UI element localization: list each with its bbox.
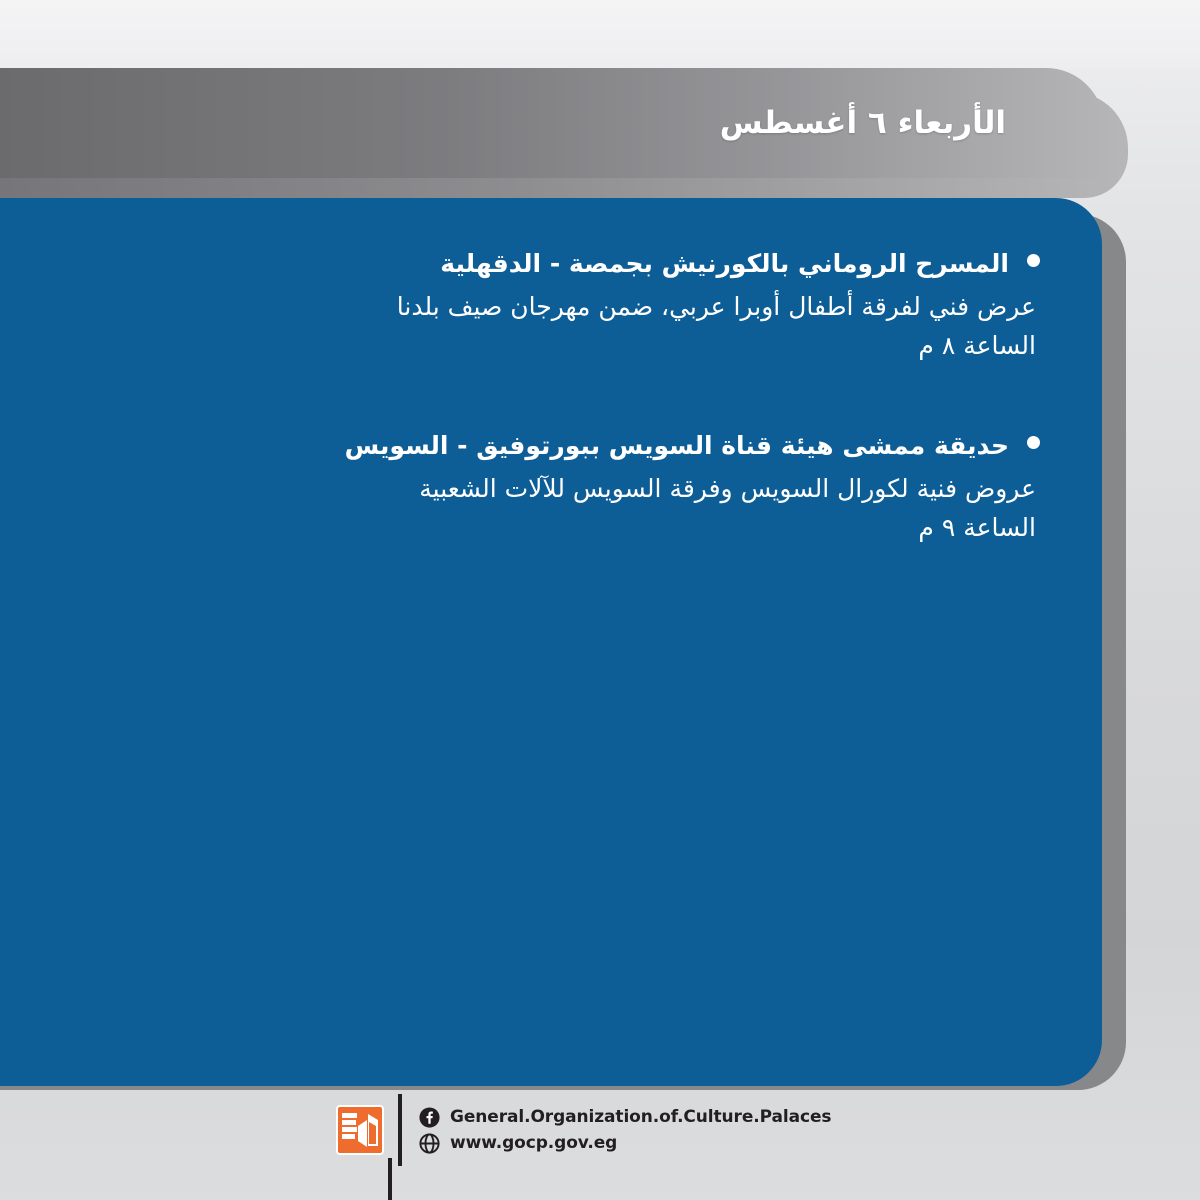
gocp-logo [336, 1105, 384, 1155]
bullet-dot-icon [1027, 254, 1040, 267]
top-strip [0, 0, 1200, 68]
logo-arabic-text-icon [342, 1113, 357, 1139]
content-panel: المسرح الروماني بالكورنيش بجمصة - الدقهل… [0, 198, 1102, 1086]
facebook-handle: General.Organization.of.Culture.Palaces [450, 1107, 831, 1127]
event-description: عرض فني لفرقة أطفال أوبرا عربي، ضمن مهرج… [62, 288, 1040, 327]
social-links: General.Organization.of.Culture.Palaces … [418, 1106, 831, 1154]
bullet-dot-icon [1027, 436, 1040, 449]
event-heading: المسرح الروماني بالكورنيش بجمصة - الدقهل… [62, 246, 1040, 282]
event-title: المسرح الروماني بالكورنيش بجمصة - الدقهل… [440, 246, 1009, 282]
event-time: الساعة ٩ م [62, 509, 1040, 548]
event-list: المسرح الروماني بالكورنيش بجمصة - الدقهل… [62, 246, 1040, 548]
footer-content: General.Organization.of.Culture.Palaces … [336, 1094, 831, 1166]
globe-icon [418, 1132, 440, 1154]
event-heading: حديقة ممشى هيئة قناة السويس ببورتوفيق - … [62, 428, 1040, 464]
event-title: حديقة ممشى هيئة قناة السويس ببورتوفيق - … [345, 428, 1009, 464]
website-url: www.gocp.gov.eg [450, 1133, 617, 1153]
website-link[interactable]: www.gocp.gov.eg [418, 1132, 831, 1154]
facebook-link[interactable]: General.Organization.of.Culture.Palaces [418, 1106, 831, 1128]
poster-canvas: الأربعاء ٦ أغسطس المسرح الروماني بالكورن… [0, 0, 1200, 1200]
event-description: عروض فنية لكورال السويس وفرقة السويس للآ… [62, 470, 1040, 509]
header-bar: الأربعاء ٦ أغسطس [0, 68, 1104, 178]
header-date-label: الأربعاء ٦ أغسطس [720, 105, 1006, 141]
event-time: الساعة ٨ م [62, 327, 1040, 366]
event-item: حديقة ممشى هيئة قناة السويس ببورتوفيق - … [62, 428, 1040, 548]
logo-building-icon [356, 1114, 378, 1152]
footer-divider-lower [388, 1158, 392, 1200]
event-item: المسرح الروماني بالكورنيش بجمصة - الدقهل… [62, 246, 1040, 366]
facebook-icon [418, 1106, 440, 1128]
footer: General.Organization.of.Culture.Palaces … [0, 1086, 1200, 1200]
footer-divider [398, 1094, 402, 1166]
